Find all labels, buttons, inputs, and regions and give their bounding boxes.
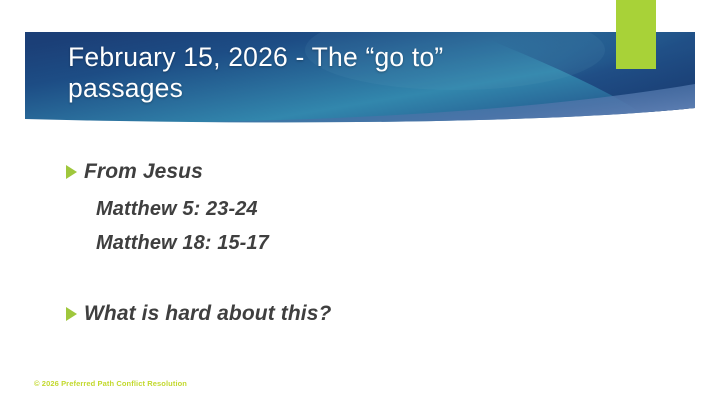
footer-copyright: © 2026 Preferred Path Conflict Resolutio… — [34, 379, 187, 388]
slide-canvas: February 15, 2026 - The “go to” passages… — [0, 0, 720, 405]
bullet-label: Matthew 5: 23-24 — [96, 198, 258, 220]
slide-body: From Jesus Matthew 5: 23-24 Matthew 18: … — [0, 150, 720, 360]
header-banner: February 15, 2026 - The “go to” passages — [0, 0, 720, 135]
triangle-bullet-icon — [66, 165, 77, 179]
triangle-bullet-icon — [66, 307, 77, 321]
green-accent-tab — [616, 0, 656, 69]
bullet-item-from-jesus: From Jesus — [66, 160, 203, 184]
page-title-line-2: passages — [68, 73, 183, 103]
bullet-label: What is hard about this? — [84, 302, 331, 326]
bullet-item-matthew-5: Matthew 5: 23-24 — [96, 198, 258, 221]
bullet-item-question: What is hard about this? — [66, 302, 331, 326]
bullet-label: From Jesus — [84, 160, 203, 184]
page-title-line-1: February 15, 2026 - The “go to” — [68, 42, 443, 72]
bullet-label: Matthew 18: 15-17 — [96, 232, 269, 254]
page-title: February 15, 2026 - The “go to” passages — [68, 42, 538, 104]
bullet-item-matthew-18: Matthew 18: 15-17 — [96, 232, 269, 255]
